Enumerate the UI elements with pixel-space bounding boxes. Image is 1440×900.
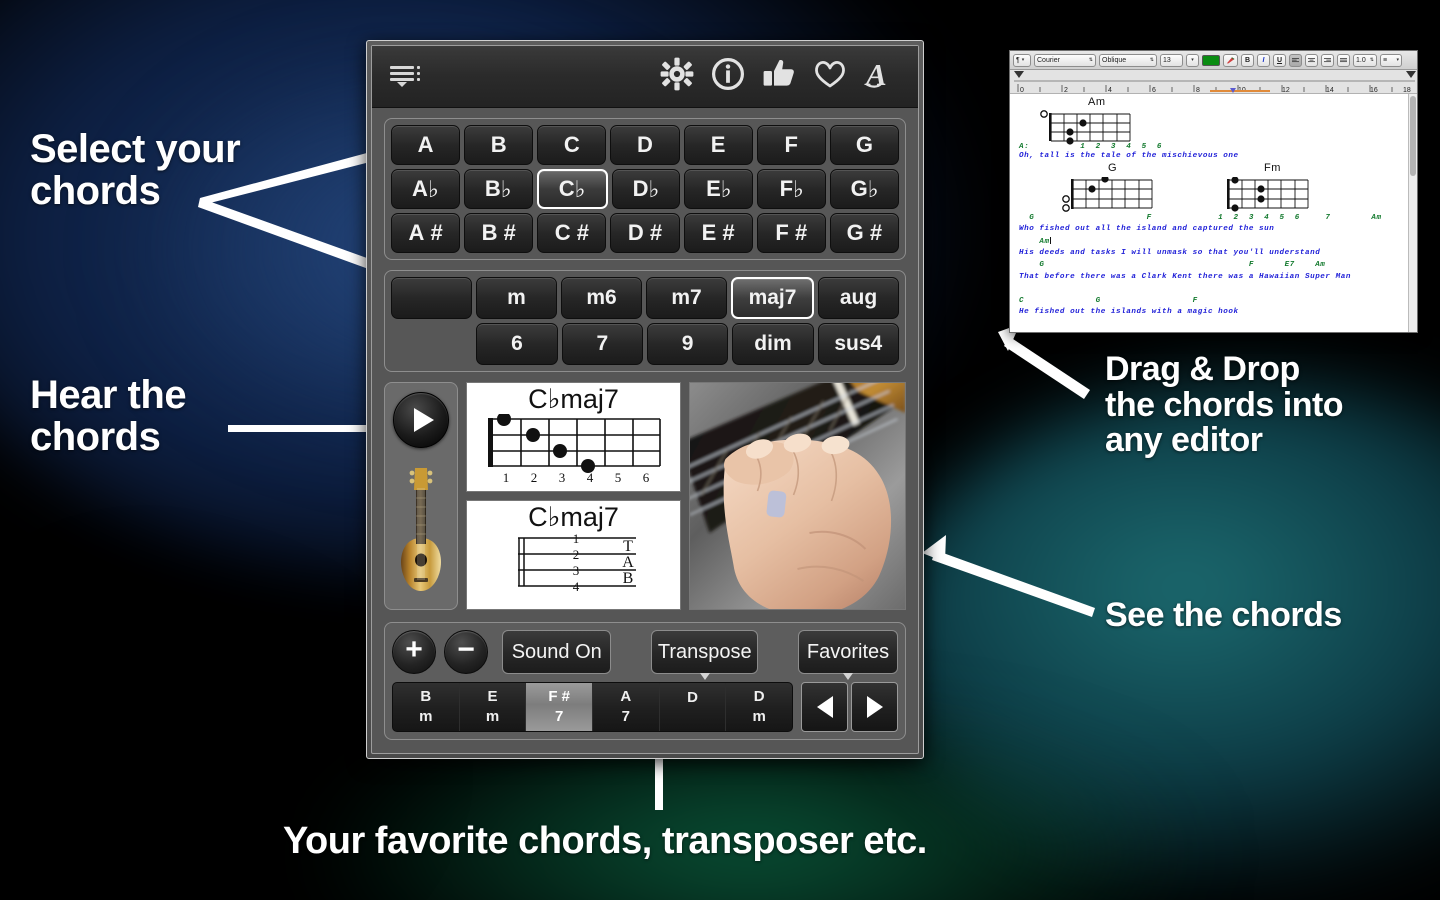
favorites-row: Bm Em F #7 A7 D Dm bbox=[392, 682, 898, 732]
editor-format-toolbar: ¶▾ Courier⇅ Oblique⇅ 13 ▾ B I U bbox=[1010, 51, 1417, 70]
editor-vertical-scrollbar[interactable] bbox=[1408, 94, 1417, 332]
font-size-stepper[interactable]: ▾ bbox=[1186, 54, 1199, 67]
key-button-b[interactable]: B bbox=[464, 125, 533, 165]
svg-text:1: 1 bbox=[503, 470, 510, 485]
editor-line-0: A: 1 2 3 4 5 6 bbox=[1019, 143, 1162, 151]
key-row-sharp: A # B # C # D # E # F # G # bbox=[391, 213, 899, 253]
line-spacing-select[interactable]: 1.0⇅ bbox=[1353, 54, 1377, 67]
thumbs-up-icon[interactable] bbox=[762, 57, 796, 96]
svg-text:16: 16 bbox=[1370, 87, 1378, 94]
control-row: + − Sound On Transpose Favorites bbox=[392, 630, 898, 674]
key-button-d-flat[interactable]: D♭ bbox=[612, 169, 681, 209]
hand-photo[interactable] bbox=[689, 382, 906, 610]
align-left-button[interactable] bbox=[1289, 54, 1302, 67]
svg-text:A: A bbox=[622, 554, 634, 571]
chord-diagram-column: C♭maj7 bbox=[466, 382, 681, 610]
tab-svg: 12 34 TAB bbox=[476, 532, 671, 598]
chord-app-inner: A A B C D E F G A♭ B♭ C♭ D♭ E♭ F♭ G♭ A # bbox=[371, 45, 919, 754]
font-style-select[interactable]: Oblique⇅ bbox=[1099, 54, 1157, 67]
editor-line-9: He fished out the islands with a magic h… bbox=[1019, 308, 1239, 316]
editor-line-8: C G F bbox=[1019, 297, 1198, 305]
svg-text:3: 3 bbox=[559, 470, 566, 485]
svg-text:4: 4 bbox=[573, 579, 580, 594]
key-button-a[interactable]: A bbox=[391, 125, 460, 165]
chord-type-panel: m m6 m7 maj7 aug 6 7 9 dim sus4 bbox=[384, 270, 906, 372]
key-button-c-sharp[interactable]: C # bbox=[537, 213, 606, 253]
tab-diagram-title: C♭maj7 bbox=[528, 503, 619, 532]
favorites-list: Bm Em F #7 A7 D Dm bbox=[392, 682, 793, 732]
editor-line-3: Who fished out all the island and captur… bbox=[1019, 225, 1274, 233]
svg-text:14: 14 bbox=[1326, 87, 1334, 94]
key-button-f-sharp[interactable]: F # bbox=[757, 213, 826, 253]
key-button-f-flat[interactable]: F♭ bbox=[757, 169, 826, 209]
editor-chord-name-g: G bbox=[1108, 162, 1117, 174]
svg-text:2: 2 bbox=[531, 470, 538, 485]
favorite-item-0[interactable]: Bm bbox=[393, 683, 460, 731]
transpose-button[interactable]: Transpose bbox=[651, 630, 758, 674]
svg-text:1: 1 bbox=[573, 532, 580, 546]
bold-button[interactable]: B bbox=[1241, 54, 1254, 67]
gear-icon[interactable] bbox=[660, 57, 694, 96]
callout-see-the-chords: See the chords bbox=[1105, 598, 1342, 634]
svg-text:4: 4 bbox=[1108, 87, 1112, 94]
key-button-a-sharp[interactable]: A # bbox=[391, 213, 460, 253]
align-justify-button[interactable] bbox=[1337, 54, 1350, 67]
svg-text:4: 4 bbox=[587, 470, 594, 485]
heart-icon[interactable] bbox=[813, 57, 847, 96]
chord-fretboard-diagram[interactable]: C♭maj7 bbox=[466, 382, 681, 492]
font-icon[interactable]: A bbox=[864, 57, 900, 96]
key-button-b-sharp[interactable]: B # bbox=[464, 213, 533, 253]
decrease-button[interactable]: − bbox=[444, 630, 488, 674]
callout-hear-the-chords: Hear the chords bbox=[30, 374, 186, 458]
play-button[interactable] bbox=[393, 392, 449, 448]
chord-type-maj7[interactable]: maj7 bbox=[731, 277, 814, 319]
key-row-flat: A♭ B♭ C♭ D♭ E♭ F♭ G♭ bbox=[391, 169, 899, 209]
chord-type-6[interactable]: 6 bbox=[476, 323, 557, 365]
paragraph-style-menu[interactable]: ¶▾ bbox=[1013, 54, 1031, 67]
svg-text:2: 2 bbox=[1064, 87, 1068, 94]
key-button-e-sharp[interactable]: E # bbox=[684, 213, 753, 253]
align-center-button[interactable] bbox=[1305, 54, 1318, 67]
sound-toggle-button[interactable]: Sound On bbox=[502, 630, 611, 674]
editor-line-2: G F 1 2 3 4 5 6 7 Am bbox=[1019, 214, 1382, 222]
editor-line-5: His deeds and tasks I will unmask so tha… bbox=[1019, 249, 1320, 257]
svg-text:6: 6 bbox=[643, 470, 650, 485]
chord-diagram-title: C♭maj7 bbox=[528, 385, 619, 414]
chord-type-dim[interactable]: dim bbox=[732, 323, 813, 365]
chevron-down-icon bbox=[843, 673, 853, 680]
svg-text:5: 5 bbox=[615, 470, 622, 485]
list-menu-icon[interactable] bbox=[390, 64, 420, 90]
svg-text:6: 6 bbox=[1152, 87, 1156, 94]
next-arrow-button[interactable] bbox=[851, 682, 898, 732]
fretboard-svg: 12 34 56 bbox=[476, 414, 671, 486]
text-color-swatch[interactable] bbox=[1202, 55, 1220, 66]
key-button-e[interactable]: E bbox=[684, 125, 753, 165]
align-right-button[interactable] bbox=[1321, 54, 1334, 67]
svg-text:18: 18 bbox=[1403, 87, 1411, 94]
key-row-natural: A B C D E F G bbox=[391, 125, 899, 165]
key-button-c-flat[interactable]: C♭ bbox=[537, 169, 608, 209]
favorite-item-2[interactable]: F #7 bbox=[526, 683, 593, 731]
chord-type-major[interactable] bbox=[391, 277, 472, 319]
chord-display-area: C♭maj7 bbox=[384, 382, 906, 610]
increase-button[interactable]: + bbox=[392, 630, 436, 674]
toolbar-icon-group: A bbox=[660, 57, 900, 96]
chord-type-7[interactable]: 7 bbox=[562, 323, 643, 365]
editor-text-area[interactable]: Am A: 1 2 3 4 5 6 Oh, tall is the tale o… bbox=[1010, 94, 1417, 332]
app-toolbar: A bbox=[372, 46, 918, 108]
key-button-b-flat[interactable]: B♭ bbox=[464, 169, 533, 209]
navigation-buttons bbox=[801, 682, 898, 732]
editor-chord-name-am: Am bbox=[1088, 96, 1106, 108]
chord-tab-diagram[interactable]: C♭maj7 12 34 TAB bbox=[466, 500, 681, 610]
key-button-g-sharp[interactable]: G # bbox=[830, 213, 899, 253]
svg-text:2: 2 bbox=[573, 547, 580, 562]
favorite-item-5[interactable]: Dm bbox=[726, 683, 792, 731]
highlight-pen-icon[interactable] bbox=[1223, 54, 1238, 67]
chord-type-9[interactable]: 9 bbox=[647, 323, 728, 365]
favorites-button[interactable]: Favorites bbox=[798, 630, 898, 674]
editor-chord-diagram-g bbox=[1060, 177, 1160, 217]
callout-select-your-chords: Select your chords bbox=[30, 128, 240, 212]
favorite-item-3[interactable]: A7 bbox=[593, 683, 660, 731]
editor-line-6: G F E7 Am bbox=[1019, 261, 1325, 269]
editor-ruler[interactable]: 024 6810 121416 18 bbox=[1010, 70, 1417, 94]
text-editor-window: ¶▾ Courier⇅ Oblique⇅ 13 ▾ B I U bbox=[1009, 50, 1418, 333]
chord-type-m6[interactable]: m6 bbox=[561, 277, 642, 319]
list-style-menu[interactable]: ≡▾ bbox=[1380, 54, 1402, 67]
font-size-input[interactable]: 13 bbox=[1160, 54, 1183, 67]
svg-text:3: 3 bbox=[573, 563, 580, 578]
svg-text:12: 12 bbox=[1282, 87, 1290, 94]
key-button-g-flat[interactable]: G♭ bbox=[830, 169, 899, 209]
favorite-item-1[interactable]: Em bbox=[460, 683, 527, 731]
editor-line-1: Oh, tall is the tale of the mischievous … bbox=[1019, 152, 1239, 160]
font-family-select[interactable]: Courier⇅ bbox=[1034, 54, 1096, 67]
key-button-a-flat[interactable]: A♭ bbox=[391, 169, 460, 209]
key-button-e-flat[interactable]: E♭ bbox=[684, 169, 753, 209]
key-button-f[interactable]: F bbox=[757, 125, 826, 165]
chord-root-panel: A B C D E F G A♭ B♭ C♭ D♭ E♭ F♭ G♭ A # B… bbox=[384, 118, 906, 260]
text-caret bbox=[1050, 237, 1051, 244]
chord-type-sus4[interactable]: sus4 bbox=[818, 323, 899, 365]
svg-text:8: 8 bbox=[1196, 87, 1200, 94]
ukulele-icon[interactable] bbox=[395, 460, 447, 600]
chord-app-window: A A B C D E F G A♭ B♭ C♭ D♭ E♭ F♭ G♭ A # bbox=[366, 40, 924, 759]
svg-text:0: 0 bbox=[1020, 87, 1024, 94]
scrollbar-thumb[interactable] bbox=[1410, 96, 1416, 176]
key-button-g[interactable]: G bbox=[830, 125, 899, 165]
chord-type-row-1: m m6 m7 maj7 aug bbox=[391, 277, 899, 319]
editor-line-4: Am bbox=[1019, 237, 1051, 246]
chord-type-m[interactable]: m bbox=[476, 277, 557, 319]
chevron-down-icon bbox=[700, 673, 710, 680]
info-icon[interactable] bbox=[711, 57, 745, 96]
chord-type-aug[interactable]: aug bbox=[818, 277, 899, 319]
prev-arrow-button[interactable] bbox=[801, 682, 848, 732]
italic-button[interactable]: I bbox=[1257, 54, 1270, 67]
key-button-d[interactable]: D bbox=[610, 125, 679, 165]
underline-button[interactable]: U bbox=[1273, 54, 1286, 67]
playback-column bbox=[384, 382, 458, 610]
svg-text:T: T bbox=[623, 538, 633, 555]
editor-chord-diagram-fm bbox=[1216, 177, 1316, 217]
callout-drag-and-drop: Drag & Drop the chords into any editor bbox=[1105, 352, 1343, 459]
svg-text:B: B bbox=[623, 570, 634, 587]
key-button-c[interactable]: C bbox=[537, 125, 606, 165]
editor-line-7: That before there was a Clark Kent there… bbox=[1019, 273, 1351, 281]
editor-chord-name-fm: Fm bbox=[1264, 162, 1281, 174]
chord-type-m7[interactable]: m7 bbox=[646, 277, 727, 319]
bottom-control-panel: + − Sound On Transpose Favorites Bm Em F… bbox=[384, 622, 906, 740]
key-button-d-sharp[interactable]: D # bbox=[610, 213, 679, 253]
callout-favorite-chords-transposer: Your favorite chords, transposer etc. bbox=[283, 822, 927, 862]
chord-type-row-2: 6 7 9 dim sus4 bbox=[391, 323, 899, 365]
favorite-item-4[interactable]: D bbox=[660, 683, 727, 731]
